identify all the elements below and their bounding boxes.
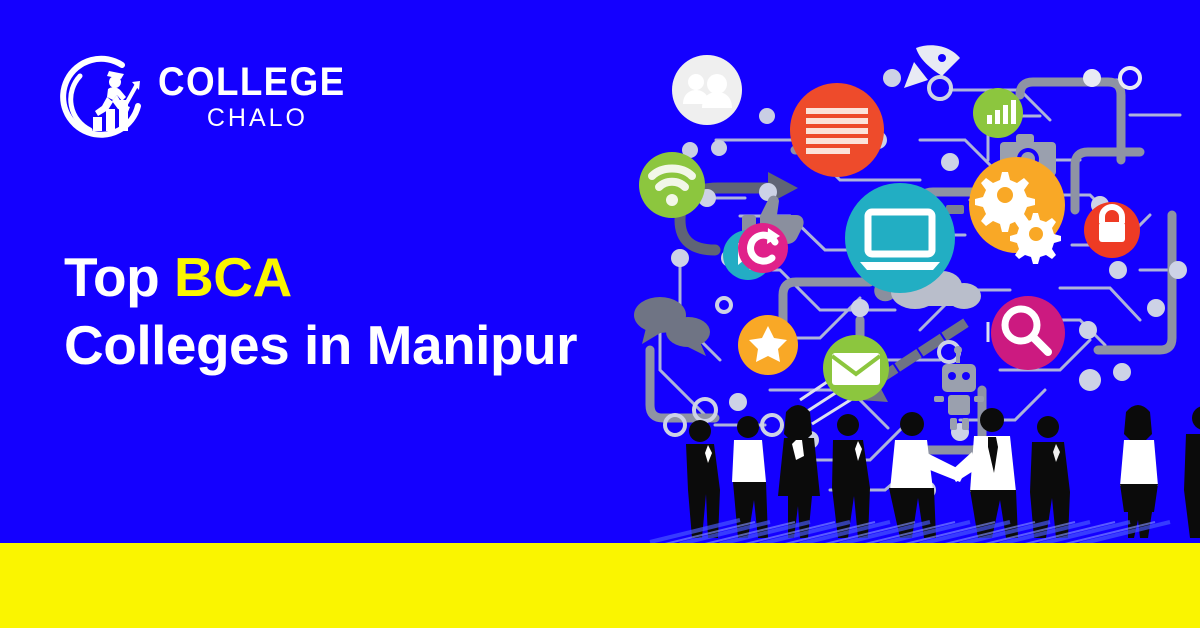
lock-icon[interactable] (1084, 202, 1140, 258)
headline-prefix: Top (64, 246, 174, 308)
document-icon[interactable] (790, 83, 884, 177)
signal-bars-icon[interactable] (973, 88, 1023, 138)
star-icon[interactable] (738, 315, 798, 375)
brand-wordmark: COLLEGE CHALO (158, 62, 318, 132)
technology-network-illustration (620, 20, 1200, 550)
brand-logo[interactable]: COLLEGE CHALO (60, 52, 320, 148)
brand-word-primary: COLLEGE (158, 62, 305, 102)
floor-stripes (650, 520, 1170, 544)
wifi-icon[interactable] (639, 152, 705, 218)
bottom-accent-bar (0, 543, 1200, 628)
chat-bubbles-icon (634, 297, 710, 356)
envelope-icon[interactable] (823, 335, 889, 401)
brand-word-secondary: CHALO (158, 104, 308, 132)
gears-icon[interactable] (969, 157, 1065, 264)
page-title: Top BCA Colleges in Manipur (64, 243, 664, 379)
headline-line-2: Colleges in Manipur (64, 311, 664, 379)
people-icon[interactable] (672, 55, 742, 125)
search-icon[interactable] (991, 296, 1065, 370)
headline-line-1: Top BCA (64, 243, 664, 311)
college-chalo-graduate-running-bars-logo (60, 54, 152, 146)
refresh-icon[interactable] (738, 223, 788, 273)
laptop-icon[interactable] (845, 183, 955, 293)
banner-root: COLLEGE CHALO Top BCA Colleges in Manipu… (0, 0, 1200, 628)
headline-accent: BCA (174, 246, 292, 308)
